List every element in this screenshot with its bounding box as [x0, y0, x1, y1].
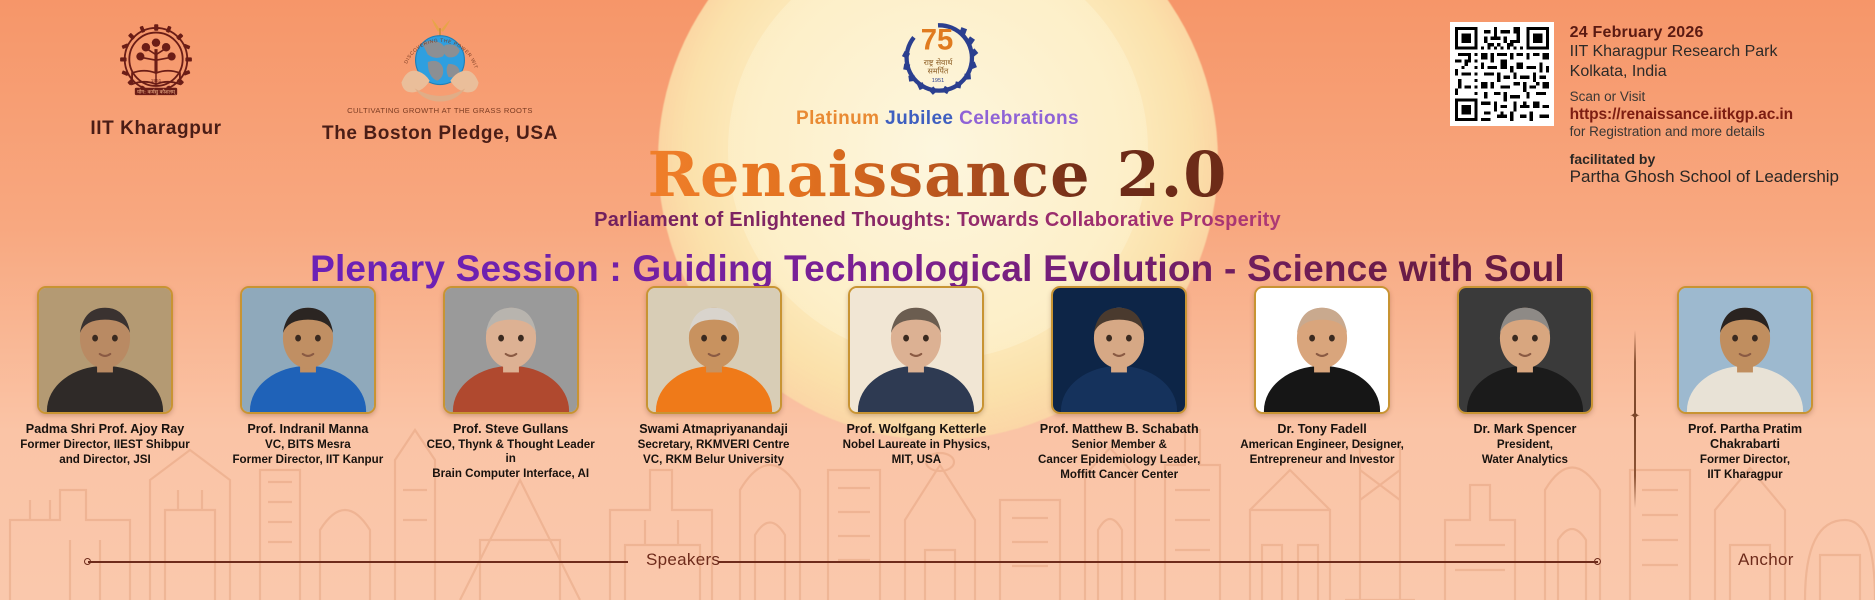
speaker-role-line: MIT, USA [831, 453, 1001, 467]
event-tagline: Parliament of Enlightened Thoughts: Towa… [0, 209, 1875, 232]
speaker-role-line: Moffitt Cancer Center [1034, 468, 1204, 482]
event-date: 24 February 2026 [1570, 24, 1839, 42]
speakers-row: Padma Shri Prof. Ajoy Ray Former Directo… [20, 286, 1610, 482]
speaker-name: Prof. Matthew B. Schabath [1034, 422, 1204, 437]
venue-line-2: Kolkata, India [1570, 62, 1839, 82]
speaker-photo[interactable] [848, 286, 984, 414]
registration-url[interactable]: https://renaissance.iitkgp.ac.in [1570, 106, 1839, 124]
speaker-photo[interactable] [1051, 286, 1187, 414]
speaker-name: Prof. Steve Gullans [426, 422, 596, 437]
event-info-block: 24 February 2026 IIT Kharagpur Research … [1450, 22, 1839, 187]
divider-ornament-icon: ✦ [1629, 410, 1641, 422]
speaker-card[interactable]: Prof. Wolfgang Ketterle Nobel Laureate i… [831, 286, 1001, 467]
event-banner: योग: कर्मसु कौशलम् 1951 IIT Kharagpur [0, 0, 1875, 600]
anchor-column: Prof. Partha Pratim Chakrabarti Former D… [1660, 286, 1856, 482]
bottom-rule-band: Speakers Anchor [0, 550, 1875, 572]
speaker-card[interactable]: Prof. Indranil Manna VC, BITS MesraForme… [223, 286, 393, 467]
svg-text:1951: 1951 [931, 78, 943, 84]
anchor-photo[interactable] [1677, 286, 1813, 414]
venue-line-1: IIT Kharagpur Research Park [1570, 42, 1839, 62]
speaker-photo[interactable] [1457, 286, 1593, 414]
speaker-role-line: President, [1440, 438, 1610, 452]
speaker-role-line: Cancer Epidemiology Leader, [1034, 453, 1204, 467]
speaker-photo[interactable] [1254, 286, 1390, 414]
title-word: Renaissance [648, 138, 1091, 211]
svg-text:राष्ट्र सेवार्थ: राष्ट्र सेवार्थ [923, 58, 953, 67]
speaker-name: Prof. Wolfgang Ketterle [831, 422, 1001, 437]
scan-label: Scan or Visit [1570, 89, 1839, 106]
title-version: 2.0 [1117, 138, 1228, 211]
speaker-role-line: Secretary, RKMVERI Centre [629, 438, 799, 452]
speaker-role-line: VC, BITS Mesra [223, 438, 393, 452]
speaker-portrait-icon [1459, 288, 1591, 412]
rule-left [88, 561, 628, 563]
speaker-photo[interactable] [443, 286, 579, 414]
qr-code-icon[interactable] [1450, 22, 1554, 126]
svg-text:75: 75 [920, 24, 953, 56]
speaker-portrait-icon [242, 288, 374, 412]
speaker-role-line: Water Analytics [1440, 453, 1610, 467]
speaker-role-line: Nobel Laureate in Physics, [831, 438, 1001, 452]
speaker-card[interactable]: Prof. Matthew B. Schabath Senior Member … [1034, 286, 1204, 482]
speaker-portrait-icon [1053, 288, 1185, 412]
jubilee-word-platinum: Platinum [796, 108, 885, 129]
speaker-card[interactable]: Dr. Tony Fadell American Engineer, Desig… [1237, 286, 1407, 467]
speaker-role-line: Senior Member & [1034, 438, 1204, 452]
registration-note: for Registration and more details [1570, 124, 1839, 141]
speaker-card[interactable]: Padma Shri Prof. Ajoy Ray Former Directo… [20, 286, 190, 467]
speaker-photo[interactable] [240, 286, 376, 414]
jubilee-word-jubilee: Jubilee [885, 108, 959, 129]
speaker-portrait-icon [1256, 288, 1388, 412]
speaker-role-line: CEO, Thynk & Thought Leader in [426, 438, 596, 466]
speaker-role-line: American Engineer, Designer, [1237, 438, 1407, 452]
facilitator-name: Partha Ghosh School of Leadership [1570, 167, 1839, 187]
speaker-photo[interactable] [646, 286, 782, 414]
speaker-role-line: Brain Computer Interface, AI [426, 467, 596, 481]
anchor-role-line: Former Director, [1660, 453, 1830, 467]
speaker-portrait-icon [850, 288, 982, 412]
jubilee-word-celebrations: Celebrations [959, 108, 1079, 129]
speaker-role-line: and Director, JSI [20, 453, 190, 467]
speaker-name: Prof. Indranil Manna [223, 422, 393, 437]
speaker-name: Dr. Mark Spencer [1440, 422, 1610, 437]
anchor-role-line: IIT Kharagpur [1660, 468, 1830, 482]
speaker-name: Padma Shri Prof. Ajoy Ray [20, 422, 190, 437]
speaker-photo[interactable] [37, 286, 173, 414]
anchor-card[interactable]: Prof. Partha Pratim Chakrabarti Former D… [1660, 286, 1830, 482]
event-info-text: 24 February 2026 IIT Kharagpur Research … [1570, 22, 1839, 187]
speaker-name: Swami Atmapriyanandaji [629, 422, 799, 437]
anchor-label: Anchor [1738, 550, 1794, 570]
speaker-name: Dr. Tony Fadell [1237, 422, 1407, 437]
speaker-card[interactable]: Swami Atmapriyanandaji Secretary, RKMVER… [629, 286, 799, 467]
speaker-card[interactable]: Prof. Steve Gullans CEO, Thynk & Thought… [426, 286, 596, 481]
speaker-portrait-icon [1679, 288, 1811, 412]
speaker-portrait-icon [648, 288, 780, 412]
rule-end-dot-right [1594, 558, 1601, 565]
rule-right [718, 561, 1598, 563]
speaker-portrait-icon [39, 288, 171, 412]
plenary-session-title: Plenary Session : Guiding Technological … [0, 248, 1875, 290]
speaker-role-line: Former Director, IIT Kanpur [223, 453, 393, 467]
speaker-role-line: Entrepreneur and Investor [1237, 453, 1407, 467]
facilitated-by-label: facilitated by [1570, 151, 1839, 167]
speaker-card[interactable]: Dr. Mark Spencer President,Water Analyti… [1440, 286, 1610, 467]
speakers-label: Speakers [646, 550, 720, 570]
speaker-role-line: VC, RKM Belur University [629, 453, 799, 467]
speaker-portrait-icon [445, 288, 577, 412]
speaker-role-line: Former Director, IIEST Shibpur [20, 438, 190, 452]
svg-text:समर्पित: समर्पित [927, 66, 948, 75]
anchor-name: Prof. Partha Pratim Chakrabarti [1660, 422, 1830, 452]
